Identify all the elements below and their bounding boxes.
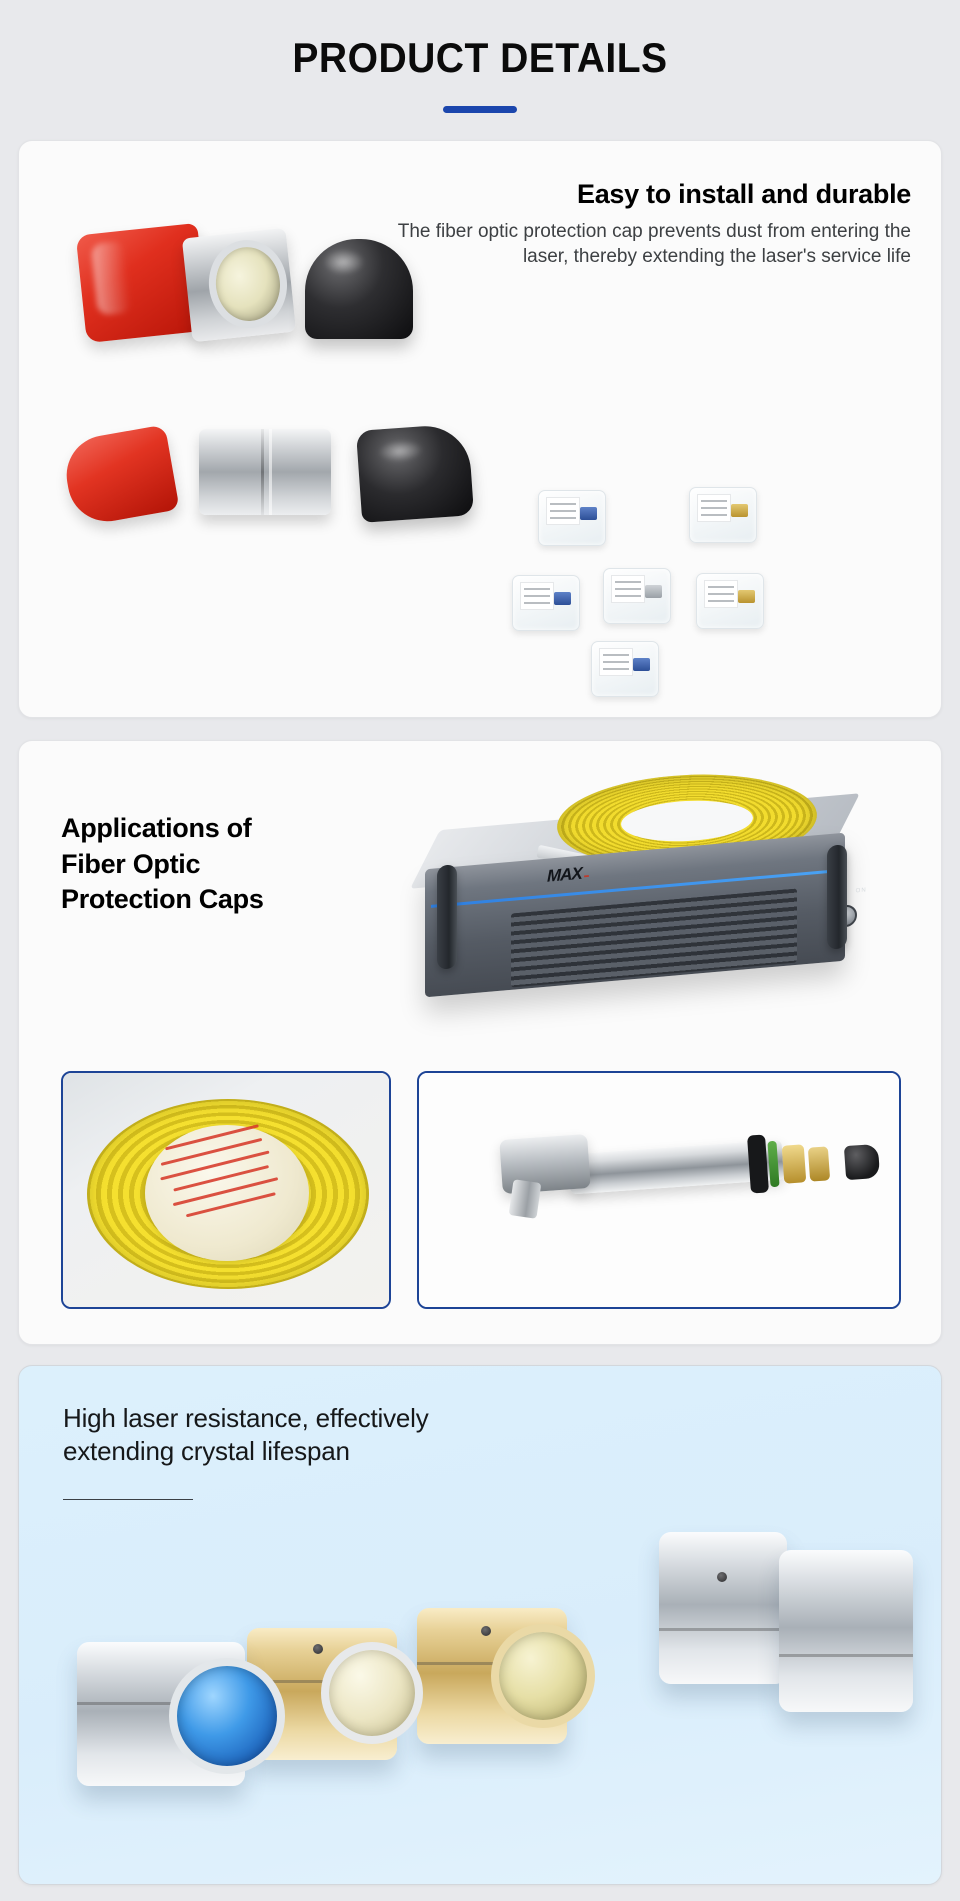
page-header: PRODUCT DETAILS xyxy=(0,0,960,113)
box-label xyxy=(546,497,580,525)
max-brand-logo: MAX▪▪▪ xyxy=(547,863,588,887)
silver-cap-back-left xyxy=(659,1532,787,1684)
laser-handle-left xyxy=(437,864,457,970)
plastic-box-item xyxy=(512,575,580,631)
connector-chip xyxy=(731,504,748,517)
photo-panel-connector xyxy=(417,1071,901,1309)
steel-ferrule-with-lens xyxy=(182,228,296,342)
card-applications: Applications of Fiber Optic Protection C… xyxy=(18,740,942,1345)
card3-text-block: High laser resistance, effectively exten… xyxy=(63,1402,683,1500)
plastic-box-item xyxy=(591,641,659,697)
connector-chip xyxy=(554,592,571,605)
card1-text-block: Easy to install and durable The fiber op… xyxy=(391,179,911,270)
connector-chip xyxy=(738,590,755,603)
card2-heading-line-2: Fiber Optic xyxy=(61,847,361,883)
box-label xyxy=(520,582,554,610)
product-details-page: PRODUCT DETAILS xyxy=(0,0,960,1901)
box-label xyxy=(611,575,645,603)
cream-coated-lens xyxy=(321,1642,423,1744)
red-protection-cap-small xyxy=(60,424,179,527)
fiber-coil-photo xyxy=(63,1073,389,1307)
switch-on-label: ON xyxy=(856,887,867,894)
connector-stub xyxy=(509,1179,542,1219)
silver-cap-back-right xyxy=(779,1550,913,1712)
title-accent-rule xyxy=(443,106,517,113)
black-protection-cap-tip xyxy=(844,1144,880,1180)
card3-heading-line-1: High laser resistance, effectively xyxy=(63,1402,683,1435)
card1-heading: Easy to install and durable xyxy=(391,179,911,210)
box-label xyxy=(704,580,738,608)
fiber-laser-machine: MAX▪▪▪ OFF ON xyxy=(379,769,919,1059)
page-title: PRODUCT DETAILS xyxy=(34,34,927,82)
card1-body-text: The fiber optic protection cap prevents … xyxy=(391,219,911,270)
plastic-box-item xyxy=(696,573,764,629)
plastic-box-item xyxy=(538,490,606,546)
box-label xyxy=(697,494,731,522)
laser-handle-right xyxy=(827,844,847,950)
cap-set-screw xyxy=(481,1626,491,1636)
cap-band xyxy=(659,1628,787,1631)
connector-chip xyxy=(633,658,650,671)
connector-chip xyxy=(645,585,662,598)
card-install-durable: Easy to install and durable The fiber op… xyxy=(18,140,942,718)
lens-glass xyxy=(205,236,292,332)
steel-sleeve-pair xyxy=(199,429,331,515)
cap-band xyxy=(779,1654,913,1657)
cap-set-screw xyxy=(717,1572,727,1582)
connector-photo xyxy=(419,1073,899,1307)
card2-heading-line-1: Applications of xyxy=(61,811,361,847)
blue-coated-lens xyxy=(169,1658,285,1774)
black-protection-cap-angled xyxy=(356,423,474,523)
connector-gold-ring-2 xyxy=(808,1146,830,1181)
card3-heading-line-2: extending crystal lifespan xyxy=(63,1435,683,1468)
connector-chip xyxy=(580,507,597,520)
card2-text-block: Applications of Fiber Optic Protection C… xyxy=(61,811,361,918)
photo-panel-fiber-coil xyxy=(61,1071,391,1309)
yellow-coated-lens xyxy=(491,1624,595,1728)
card3-photo-stage xyxy=(19,1516,941,1876)
card-laser-resistance: High laser resistance, effectively exten… xyxy=(18,1365,942,1885)
card3-underline-rule xyxy=(63,1499,193,1500)
plastic-box-item xyxy=(689,487,757,543)
plastic-box-item xyxy=(603,568,671,624)
box-label xyxy=(599,648,633,676)
cap-set-screw xyxy=(313,1644,323,1654)
brand-mark: ▪▪▪ xyxy=(584,873,588,880)
card2-heading-line-3: Protection Caps xyxy=(61,882,361,918)
connector-gold-ring-1 xyxy=(782,1144,807,1183)
